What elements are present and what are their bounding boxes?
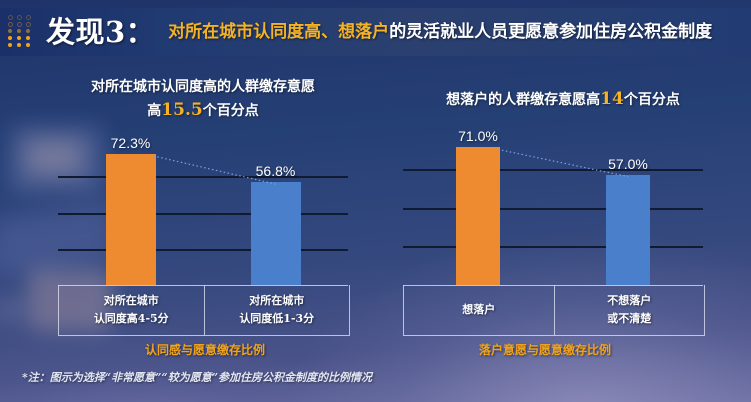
chart-title-left-line1: 对所在城市认同度高的人群缴存意愿 [58,76,348,99]
axis-label-line: 对所在城市 [249,292,304,310]
chart-title-right-line1: 想落户的人群缴存意愿高14个百分点 [398,88,728,112]
chart-gridline [58,249,348,251]
chart-gridline [403,246,703,248]
axis-label-line: 不想落户 [607,292,651,310]
slide-header: 发现3： 对所在城市认同度高、想落户的灵活就业人员更愿意参加住房公积金制度 [0,8,751,56]
slide-canvas: 发现3： 对所在城市认同度高、想落户的灵活就业人员更愿意参加住房公积金制度 对所… [0,0,751,402]
chart-title-right-prefix: 想落户的人群缴存意愿高 [446,92,600,108]
axis-label-line: 对所在城市 [104,292,159,310]
bar-value-label: 71.0% [438,128,518,144]
axis-label-line: 想落户 [462,301,495,319]
bar-chart-left: 72.3%56.8%对所在城市认同度高4-5分对所在城市认同度低1-3分 [58,140,348,335]
page-subtitle-highlight: 对所在城市认同度高、想落户 [168,22,389,42]
plot-area: 71.0%57.0% [403,130,703,285]
footnote: *注：图示为选择“非常愿意”“较为愿意”参加住房公积金制度的比例情况 [22,369,372,385]
chart-caption-left: 认同感与愿意缴存比例 [90,341,320,358]
chart-title-right: 想落户的人群缴存意愿高14个百分点 [398,88,728,112]
page-subtitle-plain: 的灵活就业人员更愿意参加住房公积金制度 [389,22,712,42]
bar-value-label: 56.8% [236,163,316,179]
chart-title-left-suffix: 个百分点 [203,103,259,119]
chart-caption-right: 落户意愿与愿意缴存比例 [420,341,670,358]
bar-value-label: 57.0% [588,156,668,172]
axis-label-table: 想落户不想落户或不清楚 [403,285,705,336]
axis-label-cell: 想落户 [404,285,554,335]
axis-label-cell: 不想落户或不清楚 [554,285,705,335]
chart-title-left: 对所在城市认同度高的人群缴存意愿 高15.5个百分点 [58,76,348,123]
chart-title-left-line2: 高15.5个百分点 [58,99,348,123]
chart-gridline [403,208,703,210]
chart-title-right-number: 14 [600,89,624,109]
axis-label-line: 或不清楚 [607,310,651,328]
dot-grid-icon [8,15,42,49]
bar-chart-right: 71.0%57.0%想落户不想落户或不清楚 [403,130,703,335]
axis-label-cell: 对所在城市认同度低1-3分 [204,285,350,335]
axis-label-cell: 对所在城市认同度高4-5分 [59,285,204,335]
chart-bar [251,182,301,285]
axis-label-line: 认同度低1-3分 [239,310,314,328]
page-subtitle: 对所在城市认同度高、想落户的灵活就业人员更愿意参加住房公积金制度 [168,24,712,41]
axis-label-line: 认同度高4-5分 [94,310,169,328]
bar-value-label: 72.3% [91,135,171,151]
chart-bar [456,147,500,285]
plot-area: 72.3%56.8% [58,140,348,285]
page-title: 发现3： [46,18,155,47]
chart-title-left-prefix: 高 [147,103,161,119]
chart-title-left-number: 15.5 [161,100,202,120]
chart-gridline [58,213,348,215]
chart-bar [106,154,156,285]
chart-bar [606,175,650,285]
axis-label-table: 对所在城市认同度高4-5分对所在城市认同度低1-3分 [58,285,350,336]
chart-title-right-suffix: 个百分点 [624,92,680,108]
